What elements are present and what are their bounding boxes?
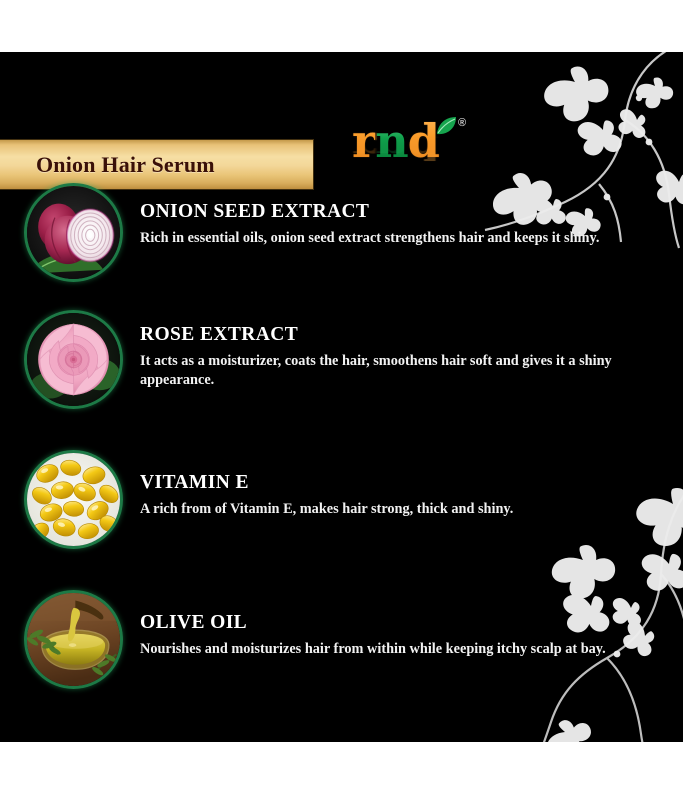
registered-trademark-icon: ®: [458, 118, 465, 129]
ingredient-description: It acts as a moisturizer, coats the hair…: [140, 352, 638, 390]
ingredient-copy: ROSE EXTRACT It acts as a moisturizer, c…: [140, 310, 674, 390]
logo-reflection-n: n: [375, 128, 407, 167]
ingredient-copy: VITAMIN E A rich from of Vitamin E, make…: [140, 450, 674, 519]
ingredient-description: A rich from of Vitamin E, makes hair str…: [140, 500, 660, 519]
logo-reflection-r: r: [352, 128, 375, 167]
rose-photo-icon: [24, 310, 123, 409]
onion-photo-icon: [24, 183, 123, 282]
ingredient-description: Nourishes and moisturizes hair from with…: [140, 640, 660, 659]
ingredient-title: VITAMIN E: [140, 450, 674, 493]
olive-oil-photo-icon: [24, 590, 123, 689]
product-ingredient-poster: Onion Hair Serum rnd ® rnd: [0, 0, 683, 800]
list-item: ONION SEED EXTRACT Rich in essential oil…: [24, 183, 674, 283]
vitamin-e-capsules-photo-icon: [24, 450, 123, 549]
ingredient-title: OLIVE OIL: [140, 590, 674, 633]
ingredient-copy: ONION SEED EXTRACT Rich in essential oil…: [140, 183, 674, 248]
list-item: VITAMIN E A rich from of Vitamin E, make…: [24, 450, 674, 550]
list-item: OLIVE OIL Nourishes and moisturizes hair…: [24, 590, 674, 690]
ingredient-title: ONION SEED EXTRACT: [140, 183, 674, 222]
list-item: ROSE EXTRACT It acts as a moisturizer, c…: [24, 310, 674, 410]
logo-reflection-d: d: [408, 128, 439, 167]
page-title: Onion Hair Serum: [0, 152, 215, 178]
poster-black-panel: Onion Hair Serum rnd ® rnd: [0, 52, 683, 742]
leaf-icon: [436, 116, 458, 136]
ingredient-description: Rich in essential oils, onion seed extra…: [140, 229, 660, 248]
brand-logo-reflection: rnd: [352, 131, 439, 164]
ingredient-copy: OLIVE OIL Nourishes and moisturizes hair…: [140, 590, 674, 659]
product-title-banner: Onion Hair Serum: [0, 140, 313, 189]
ingredient-title: ROSE EXTRACT: [140, 310, 674, 345]
